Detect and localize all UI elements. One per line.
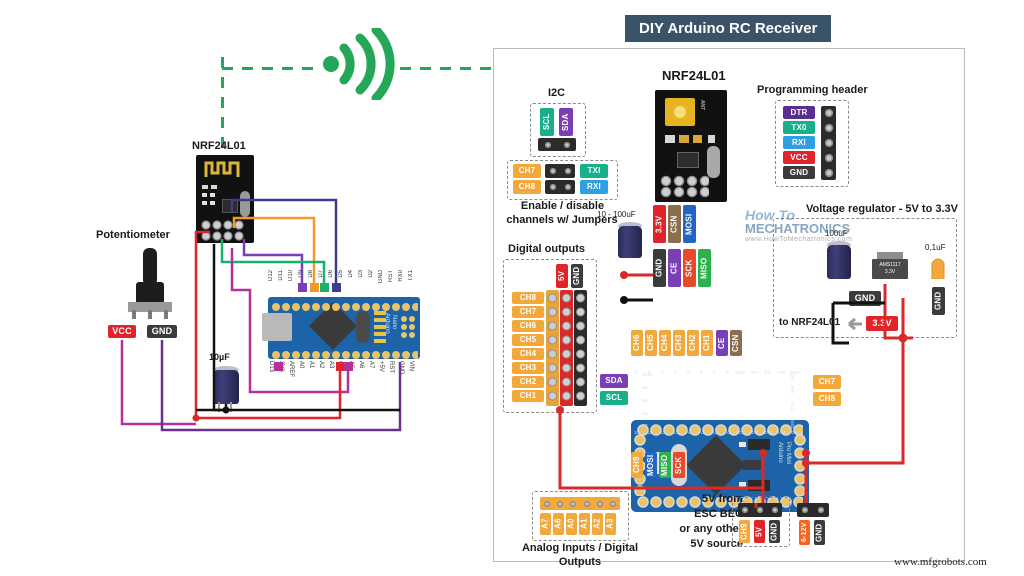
watermark-logo: How To MECHATRONICS www.HowToMechatronic…	[745, 208, 852, 243]
watermark-brand-2: MECHATRONICS	[745, 222, 852, 236]
receiver-wiring	[493, 48, 963, 560]
watermark-brand-url: www.HowToMechatronics.com	[745, 236, 852, 243]
page-title: DIY Arduino RC Receiver	[625, 15, 831, 42]
transmitter-wiring	[0, 0, 470, 440]
footer-url: www.mfgrobots.com	[894, 556, 987, 568]
watermark-brand-1: How To	[745, 208, 852, 222]
